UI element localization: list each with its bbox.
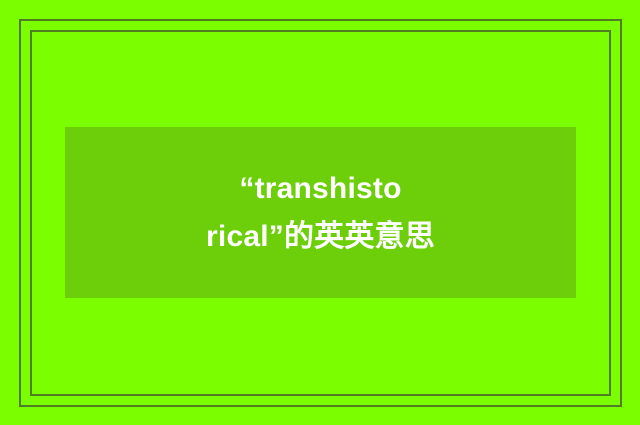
title-line-1: “transhisto xyxy=(206,165,435,213)
title-card-canvas: “transhisto rical”的英英意思 xyxy=(0,0,640,425)
title-line-2: rical”的英英意思 xyxy=(206,213,435,261)
content-panel: “transhisto rical”的英英意思 xyxy=(65,127,576,298)
title-text-block: “transhisto rical”的英英意思 xyxy=(206,165,435,261)
